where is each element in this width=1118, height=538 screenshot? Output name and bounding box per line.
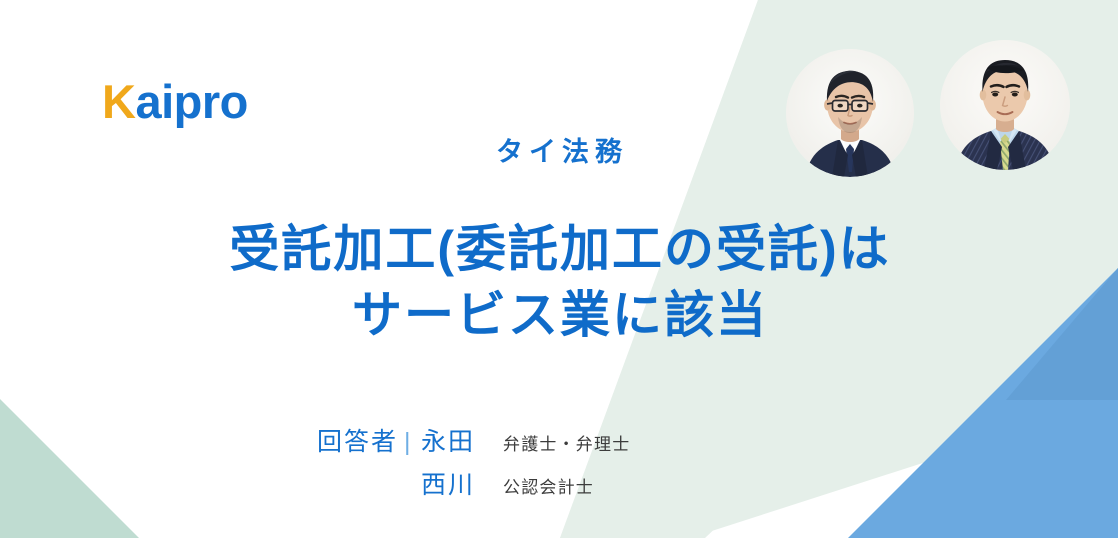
page-title-line-1: 受託加工(委託加工の受託)は bbox=[0, 216, 1118, 282]
credit-separator: | bbox=[404, 428, 412, 457]
credit-lead: 回答者|永田 bbox=[0, 422, 475, 458]
brand-logo-initial: K bbox=[102, 75, 135, 128]
page-title: 受託加工(委託加工の受託)は サービス業に該当 bbox=[0, 216, 1118, 348]
credit-qualification: 公認会計士 bbox=[503, 473, 594, 498]
credit-name: 永田 bbox=[421, 428, 475, 456]
credit-qualification: 弁護士・弁理士 bbox=[503, 430, 630, 455]
answerer-label: 回答者 bbox=[317, 428, 398, 456]
portrait-nishikawa-image bbox=[940, 40, 1070, 170]
credit-lead: 西川 bbox=[0, 465, 475, 501]
credits-block: 回答者|永田 弁護士・弁理士 西川 公認会計士 bbox=[0, 422, 1118, 508]
brand-logo[interactable]: Kaipro bbox=[102, 78, 248, 125]
page-title-line-2: サービス業に該当 bbox=[0, 282, 1118, 348]
portrait-nishikawa bbox=[940, 40, 1070, 170]
thumbnail-canvas: Kaipro タイ法務 受託加工(委託加工の受託)は サービス業に該当 回答者|… bbox=[0, 0, 1118, 538]
credit-row: 西川 公認会計士 bbox=[0, 465, 1118, 508]
brand-logo-rest: aipro bbox=[135, 75, 247, 128]
credit-name: 西川 bbox=[421, 471, 475, 499]
portrait-nagata-image bbox=[786, 49, 914, 177]
portrait-nagata bbox=[786, 49, 914, 177]
credit-row: 回答者|永田 弁護士・弁理士 bbox=[0, 422, 1118, 465]
